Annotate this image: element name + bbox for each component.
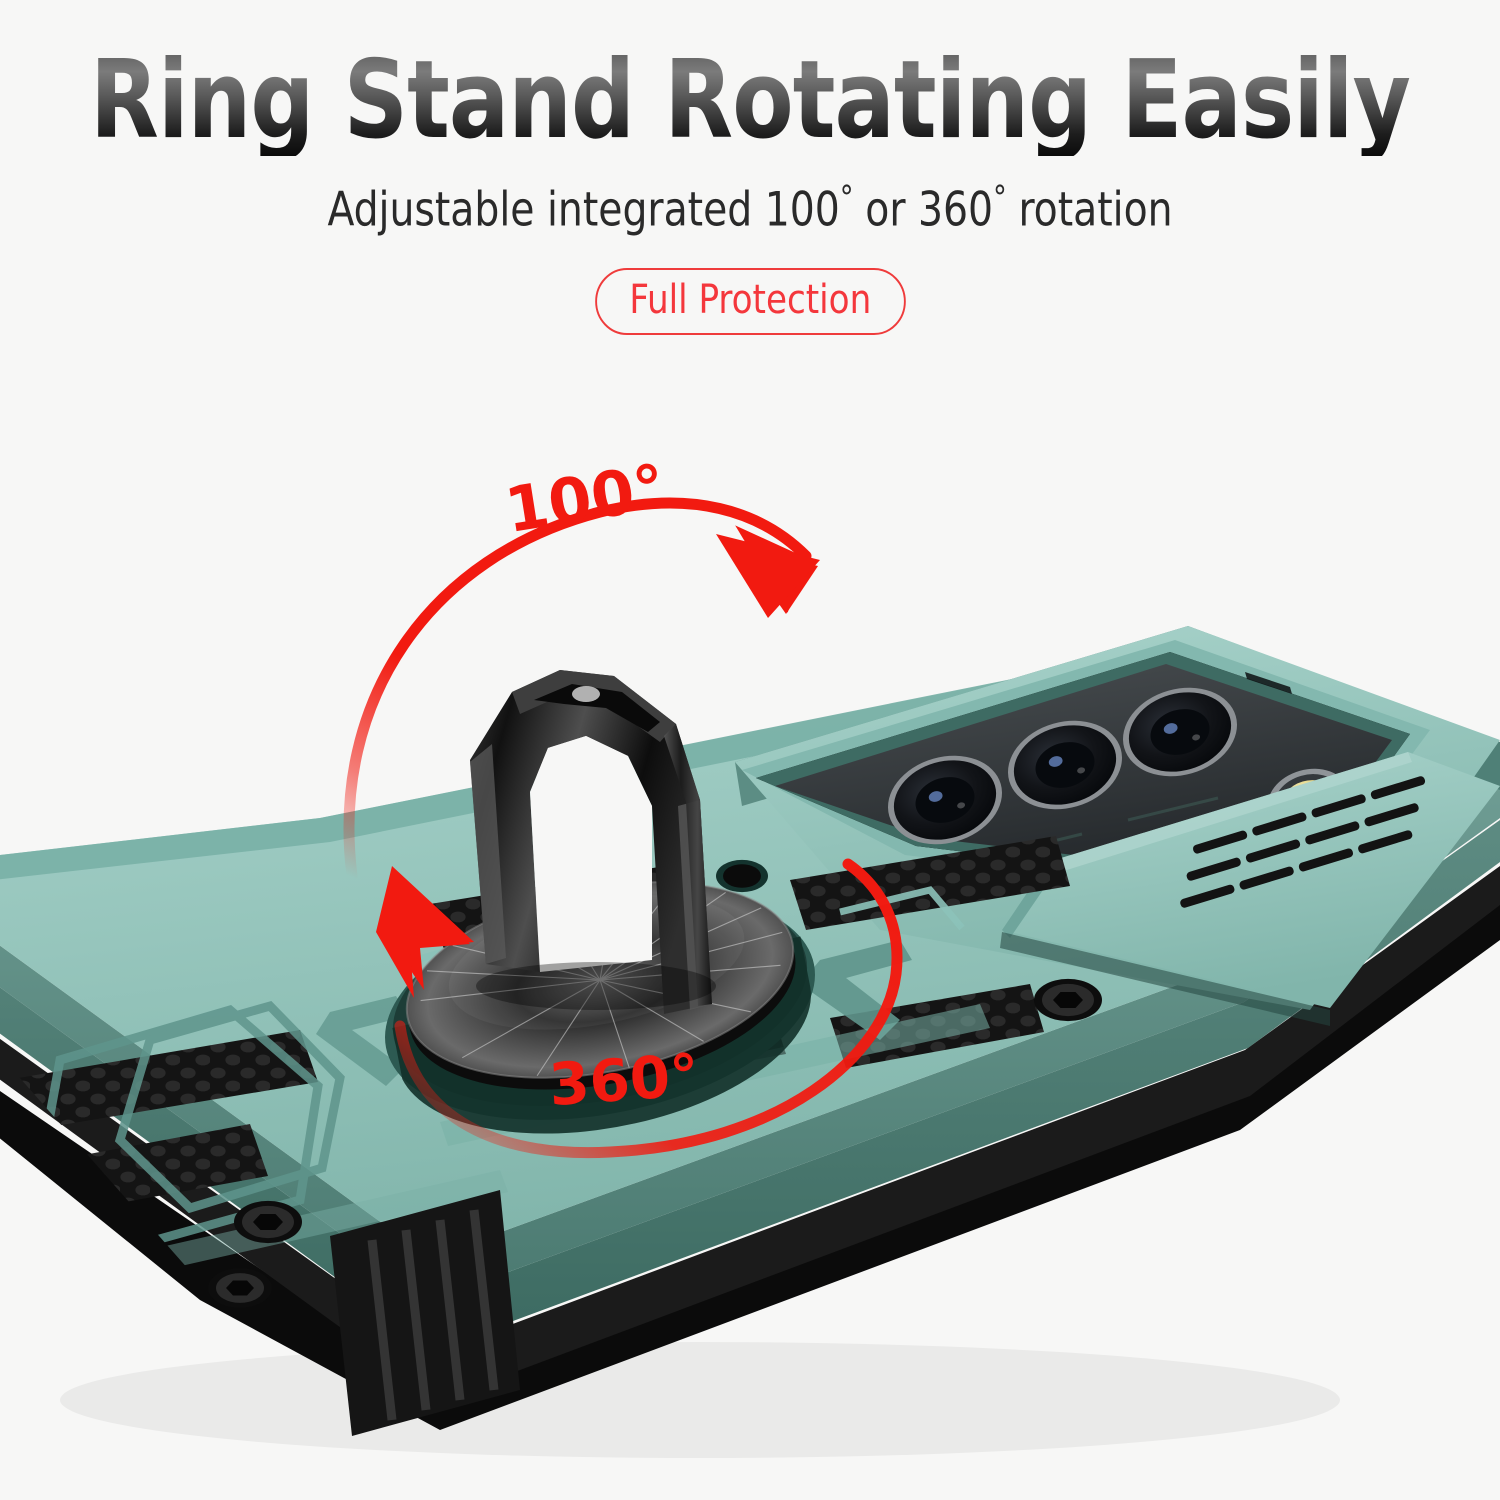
status-badge: Full Protection	[595, 268, 905, 335]
subtitle-prefix: Adjustable integrated 100	[327, 183, 839, 238]
degree-symbol-100: °	[840, 178, 865, 217]
degree-symbol-360: °	[993, 178, 1018, 217]
annotation-100-degrees: 100°	[500, 450, 670, 547]
page-title: Ring Stand Rotating Easily	[60, 0, 1440, 156]
badge-row: Full Protection	[0, 238, 1500, 335]
annotation-360-degrees: 360°	[547, 1041, 701, 1119]
header-block: Ring Stand Rotating Easily Adjustable in…	[0, 0, 1500, 335]
subtitle-suffix: rotation	[1018, 183, 1172, 238]
product-marketing-image: Ring Stand Rotating Easily Adjustable in…	[0, 0, 1500, 1500]
page-subtitle: Adjustable integrated 100°or 360°rotatio…	[53, 156, 1448, 238]
subtitle-middle: or 360	[865, 183, 993, 238]
